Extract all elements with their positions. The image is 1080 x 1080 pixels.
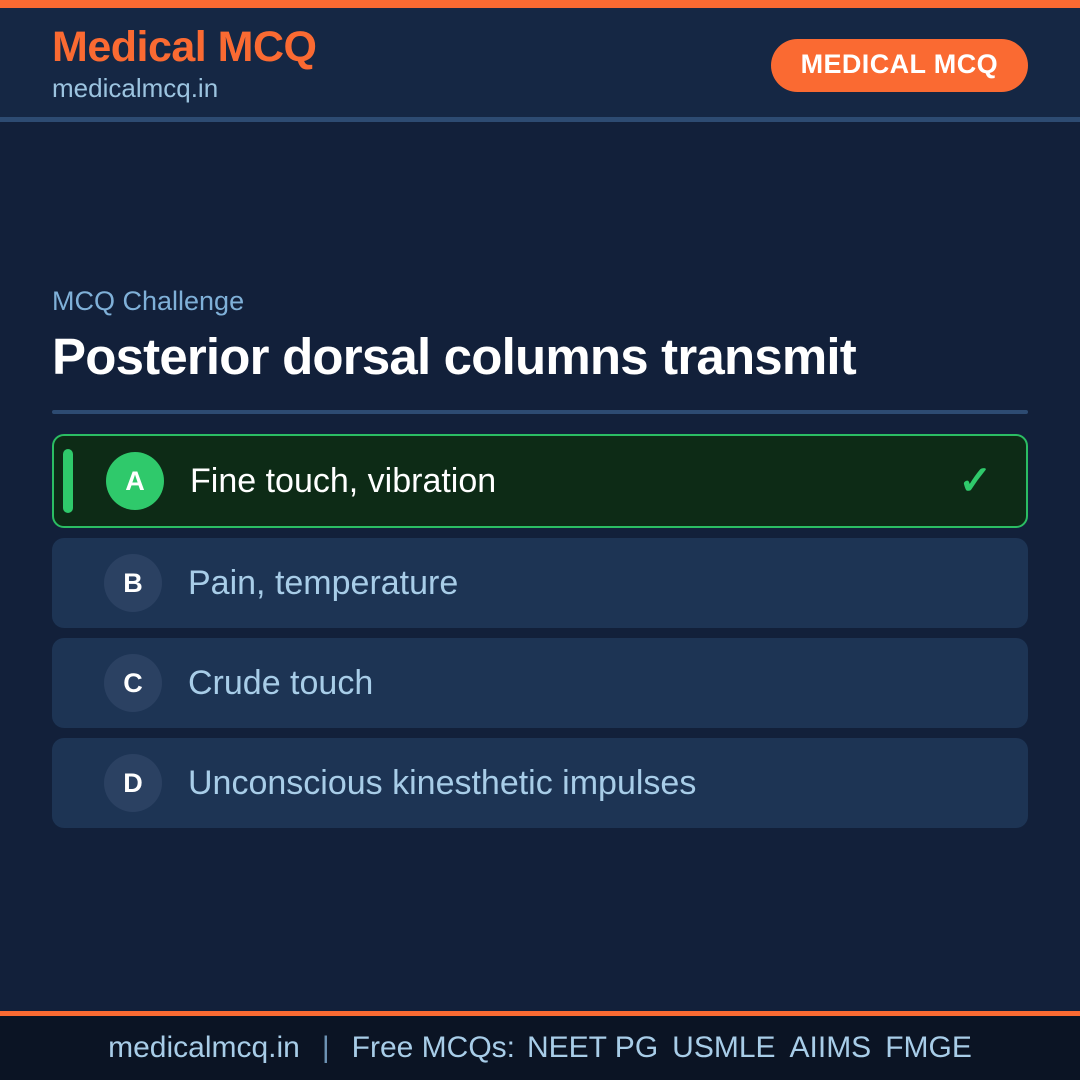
- option-text-d: Unconscious kinesthetic impulses: [188, 765, 696, 802]
- page-header: Medical MCQ medicalmcq.in MEDICAL MCQ: [0, 8, 1080, 122]
- option-text-c: Crude touch: [188, 665, 373, 702]
- option-letter-a: A: [106, 452, 164, 510]
- footer-label: Free MCQs:: [352, 1031, 515, 1065]
- check-icon: ✓: [958, 461, 992, 501]
- header-badge: MEDICAL MCQ: [771, 39, 1028, 92]
- option-text-a: Fine touch, vibration: [190, 463, 496, 500]
- option-row-a[interactable]: A Fine touch, vibration ✓: [52, 434, 1028, 528]
- footer-exam-neetpg: NEET PG: [527, 1031, 658, 1065]
- top-accent-rule: [0, 0, 1080, 8]
- title-divider: [52, 410, 1028, 414]
- question-title: Posterior dorsal columns transmit: [52, 329, 1028, 384]
- footer-exam-aiims: AIIMS: [790, 1031, 872, 1065]
- correct-accent-bar: [63, 449, 73, 513]
- option-letter-d: D: [104, 754, 162, 812]
- footer-exam-fmge: FMGE: [885, 1031, 972, 1065]
- question-stage: MCQ Challenge Posterior dorsal columns t…: [52, 287, 1028, 829]
- option-letter-b: B: [104, 554, 162, 612]
- page-footer: medicalmcq.in | Free MCQs: NEET PG USMLE…: [0, 1011, 1080, 1080]
- option-letter-c: C: [104, 654, 162, 712]
- option-row-d[interactable]: D Unconscious kinesthetic impulses: [52, 738, 1028, 828]
- footer-site: medicalmcq.in: [108, 1031, 300, 1065]
- option-row-b[interactable]: B Pain, temperature: [52, 538, 1028, 628]
- brand-subtitle: medicalmcq.in: [52, 72, 317, 105]
- options-list: A Fine touch, vibration ✓ B Pain, temper…: [52, 434, 1028, 828]
- footer-separator: |: [322, 1031, 330, 1065]
- option-text-b: Pain, temperature: [188, 565, 458, 602]
- footer-text: medicalmcq.in | Free MCQs: NEET PG USMLE…: [108, 1031, 972, 1065]
- main-content: MCQ Challenge Posterior dorsal columns t…: [0, 122, 1080, 1011]
- brand-title: Medical MCQ: [52, 25, 317, 70]
- option-row-c[interactable]: C Crude touch: [52, 638, 1028, 728]
- mcq-card-page: Medical MCQ medicalmcq.in MEDICAL MCQ MC…: [0, 0, 1080, 1080]
- footer-exam-usmle: USMLE: [672, 1031, 775, 1065]
- brand-block: Medical MCQ medicalmcq.in: [52, 25, 317, 104]
- eyebrow-label: MCQ Challenge: [52, 287, 1028, 317]
